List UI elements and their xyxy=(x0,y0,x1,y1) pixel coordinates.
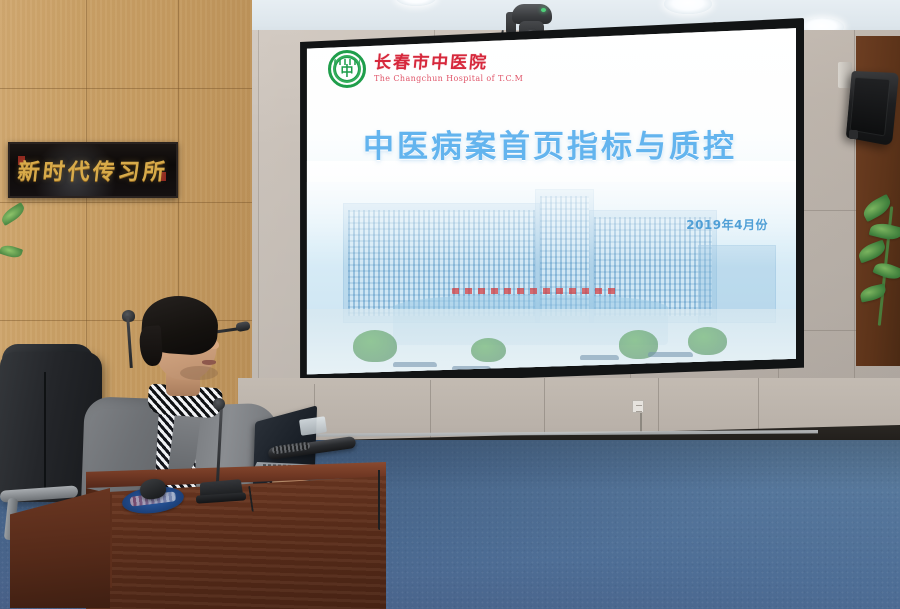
slide-date: 2019年4月份 xyxy=(686,216,768,233)
projection-screen-display[interactable]: 中 长春市中医院 The Changchun Hospital of T.C.M… xyxy=(304,26,796,380)
presentation-slide: 中 长春市中医院 The Changchun Hospital of T.C.M… xyxy=(304,26,796,380)
power-outlet-icon xyxy=(632,400,644,413)
slide-title: 中医病案首页指标与质控 xyxy=(304,121,796,166)
mouth xyxy=(202,360,216,365)
camera-led-icon xyxy=(541,8,546,12)
projection-screen-bezel[interactable]: 中 长春市中医院 The Changchun Hospital of T.C.M… xyxy=(296,18,804,388)
hair-sideburn xyxy=(139,325,164,366)
plaque-text: 新时代传习所 xyxy=(16,154,169,186)
chin-shadow xyxy=(180,366,218,380)
desk-cable xyxy=(378,470,380,530)
chair-seam xyxy=(44,372,46,490)
slide-logo-row: 中 长春市中医院 The Changchun Hospital of T.C.M xyxy=(328,50,523,88)
speaker-mount xyxy=(849,130,858,139)
emblem-glyph: 中 xyxy=(340,60,353,79)
desk-microphone-head xyxy=(213,398,225,410)
slide-photo-fade xyxy=(304,161,796,267)
hospital-emblem-icon: 中 xyxy=(328,50,366,88)
conference-room-photo: 新时代传习所 xyxy=(0,0,900,609)
speaker-grille-icon xyxy=(850,77,891,137)
wall-plaque: 新时代传习所 xyxy=(8,142,178,198)
hospital-name-en: The Changchun Hospital of T.C.M xyxy=(374,74,523,83)
hospital-name-cn: 长春市中医院 xyxy=(373,55,524,73)
